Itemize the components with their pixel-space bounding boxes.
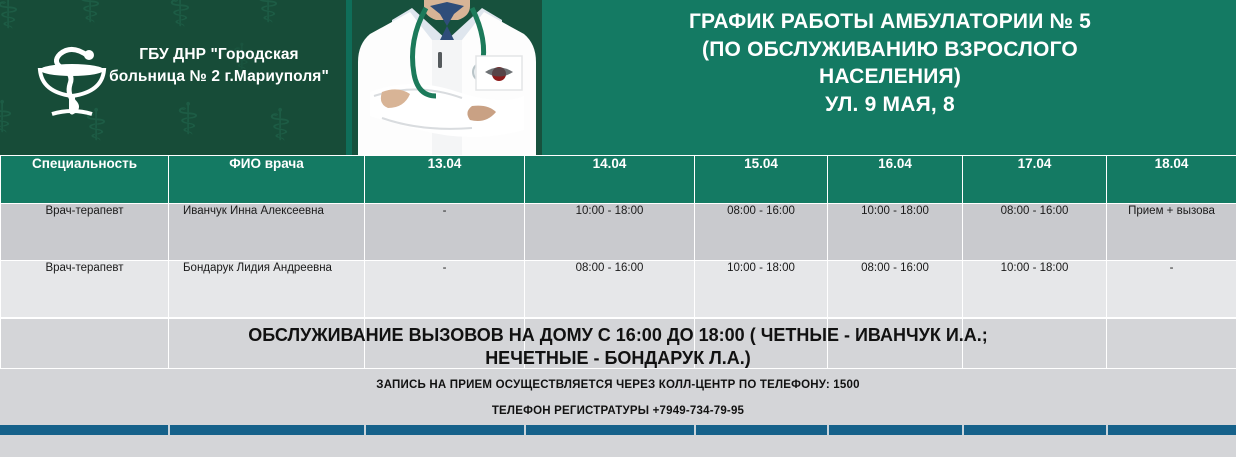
watermark-caduceus-icon: ⚕ bbox=[256, 0, 280, 30]
cell-13-04: - bbox=[365, 204, 525, 261]
column-header-16-04: 16.04 bbox=[828, 156, 963, 204]
column-header-doctor: ФИО врача bbox=[169, 156, 365, 204]
footer-cell bbox=[169, 319, 365, 369]
footer-cell bbox=[695, 319, 828, 369]
footer-notes: ОБСЛУЖИВАНИЕ ВЫЗОВОВ НА ДОМУ С 16:00 ДО … bbox=[0, 318, 1236, 369]
cell-specialty: Врач-терапевт bbox=[1, 204, 169, 261]
page-title-line3: НАСЕЛЕНИЯ) bbox=[560, 63, 1220, 91]
cell-17-04: 08:00 - 16:00 bbox=[963, 204, 1107, 261]
hospital-name-line1: ГБУ ДНР "Городская bbox=[88, 44, 350, 66]
cell-18-04: - bbox=[1107, 261, 1236, 318]
footer-contacts: ЗАПИСЬ НА ПРИЕМ ОСУЩЕСТВЛЯЕТСЯ ЧЕРЕЗ КОЛ… bbox=[0, 369, 1236, 425]
bottom-accent-bar bbox=[0, 425, 1236, 435]
column-header-14-04: 14.04 bbox=[525, 156, 695, 204]
page-title-line1: ГРАФИК РАБОТЫ АМБУЛАТОРИИ № 5 bbox=[560, 8, 1220, 36]
schedule-table: Специальность ФИО врача 13.04 14.04 15.0… bbox=[0, 155, 1236, 318]
footer-cell bbox=[1, 319, 169, 369]
page-title-line2: (ПО ОБСЛУЖИВАНИЮ ВЗРОСЛОГО bbox=[560, 36, 1220, 64]
footer-cell bbox=[963, 319, 1107, 369]
cell-doctor: Бондарук Лидия Андреевна bbox=[169, 261, 365, 318]
page-title-line4: УЛ. 9 МАЯ, 8 bbox=[560, 91, 1220, 119]
doctor-photo bbox=[352, 0, 542, 155]
table-header-row: Специальность ФИО врача 13.04 14.04 15.0… bbox=[1, 156, 1236, 204]
footer-cell bbox=[365, 319, 525, 369]
watermark-caduceus-icon: ⚕ bbox=[78, 0, 102, 30]
page-title: ГРАФИК РАБОТЫ АМБУЛАТОРИИ № 5 (ПО ОБСЛУЖ… bbox=[560, 8, 1220, 119]
registry-phone-note: ТЕЛЕФОН РЕГИСТРАТУРЫ +7949-734-79-95 bbox=[0, 391, 1236, 425]
footer-grid-row bbox=[1, 319, 1236, 369]
schedule-poster: ⚕ ⚕ ⚕ ⚕ ⚕ ⚕ ⚕ ⚕ ⚕ bbox=[0, 0, 1236, 457]
hospital-name: ГБУ ДНР "Городская больница № 2 г.Мариуп… bbox=[88, 44, 350, 89]
hospital-branding-panel: ⚕ ⚕ ⚕ ⚕ ⚕ ⚕ ⚕ ⚕ ⚕ bbox=[0, 0, 356, 155]
column-header-17-04: 17.04 bbox=[963, 156, 1107, 204]
watermark-caduceus-icon: ⚕ bbox=[168, 0, 192, 34]
cell-doctor: Иванчук Инна Алексеевна bbox=[169, 204, 365, 261]
watermark-caduceus-icon: ⚕ bbox=[0, 96, 14, 140]
cell-14-04: 10:00 - 18:00 bbox=[525, 204, 695, 261]
table-row: Врач-терапевт Бондарук Лидия Андреевна -… bbox=[1, 261, 1236, 318]
cell-16-04: 10:00 - 18:00 bbox=[828, 204, 963, 261]
cell-15-04: 08:00 - 16:00 bbox=[695, 204, 828, 261]
column-header-15-04: 15.04 bbox=[695, 156, 828, 204]
cell-16-04: 08:00 - 16:00 bbox=[828, 261, 963, 318]
cell-14-04: 08:00 - 16:00 bbox=[525, 261, 695, 318]
cell-17-04: 10:00 - 18:00 bbox=[963, 261, 1107, 318]
watermark-caduceus-icon: ⚕ bbox=[176, 98, 200, 142]
watermark-caduceus-icon: ⚕ bbox=[268, 104, 292, 148]
hospital-name-line2: больница № 2 г.Мариуполя" bbox=[88, 66, 350, 88]
column-header-specialty: Специальность bbox=[1, 156, 169, 204]
table-row: Врач-терапевт Иванчук Инна Алексеевна - … bbox=[1, 204, 1236, 261]
watermark-caduceus-icon: ⚕ bbox=[0, 0, 20, 36]
cell-18-04: Прием + вызова bbox=[1107, 204, 1236, 261]
column-header-18-04: 18.04 bbox=[1107, 156, 1236, 204]
column-header-13-04: 13.04 bbox=[365, 156, 525, 204]
footer-cell bbox=[525, 319, 695, 369]
cell-13-04: - bbox=[365, 261, 525, 318]
footer-cell bbox=[1107, 319, 1236, 369]
cell-specialty: Врач-терапевт bbox=[1, 261, 169, 318]
cell-15-04: 10:00 - 18:00 bbox=[695, 261, 828, 318]
footer-grid bbox=[0, 318, 1236, 369]
call-center-note: ЗАПИСЬ НА ПРИЕМ ОСУЩЕСТВЛЯЕТСЯ ЧЕРЕЗ КОЛ… bbox=[0, 369, 1236, 391]
footer-cell bbox=[828, 319, 963, 369]
poster-header: ⚕ ⚕ ⚕ ⚕ ⚕ ⚕ ⚕ ⚕ ⚕ bbox=[0, 0, 1236, 155]
